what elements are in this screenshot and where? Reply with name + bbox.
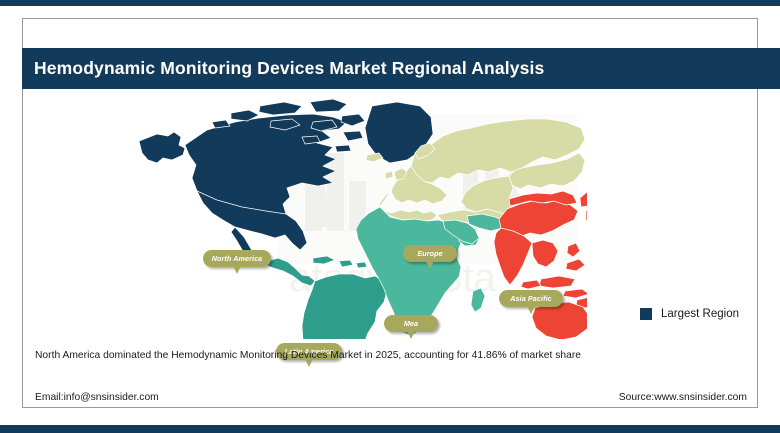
map-region-latin-america	[259, 256, 387, 339]
map-label-mea[interactable]: Mea	[384, 315, 438, 332]
map-label-europe-text: Europe	[417, 249, 442, 258]
legend-label-largest-region: Largest Region	[661, 308, 739, 320]
map-label-europe[interactable]: Europe	[403, 245, 457, 262]
footer-source: Source:www.snsinsider.com	[619, 392, 747, 403]
map-label-asia-pacific[interactable]: Asia Pacific	[499, 290, 563, 307]
footer-email: Email:info@snsinsider.com	[35, 392, 159, 403]
map-stage: ategy & Sta	[22, 89, 758, 339]
map-region-asia-pacific	[494, 191, 587, 339]
legend: Largest Region	[640, 308, 739, 320]
page-bottom-accent-bar	[0, 425, 780, 433]
page-top-accent-bar	[0, 0, 780, 6]
map-label-mea-text: Mea	[404, 319, 418, 328]
footnote: North America dominated the Hemodynamic …	[35, 350, 581, 361]
title-bar: Hemodynamic Monitoring Devices Market Re…	[22, 48, 780, 89]
page-title: Hemodynamic Monitoring Devices Market Re…	[22, 58, 544, 79]
map-label-north-america-text: North America	[212, 254, 263, 263]
footer: Email:info@snsinsider.com Source:www.sns…	[35, 392, 747, 403]
map-label-north-america[interactable]: North America	[203, 250, 271, 267]
map-label-asia-pacific-text: Asia Pacific	[510, 294, 552, 303]
legend-swatch-largest-region	[640, 308, 652, 320]
